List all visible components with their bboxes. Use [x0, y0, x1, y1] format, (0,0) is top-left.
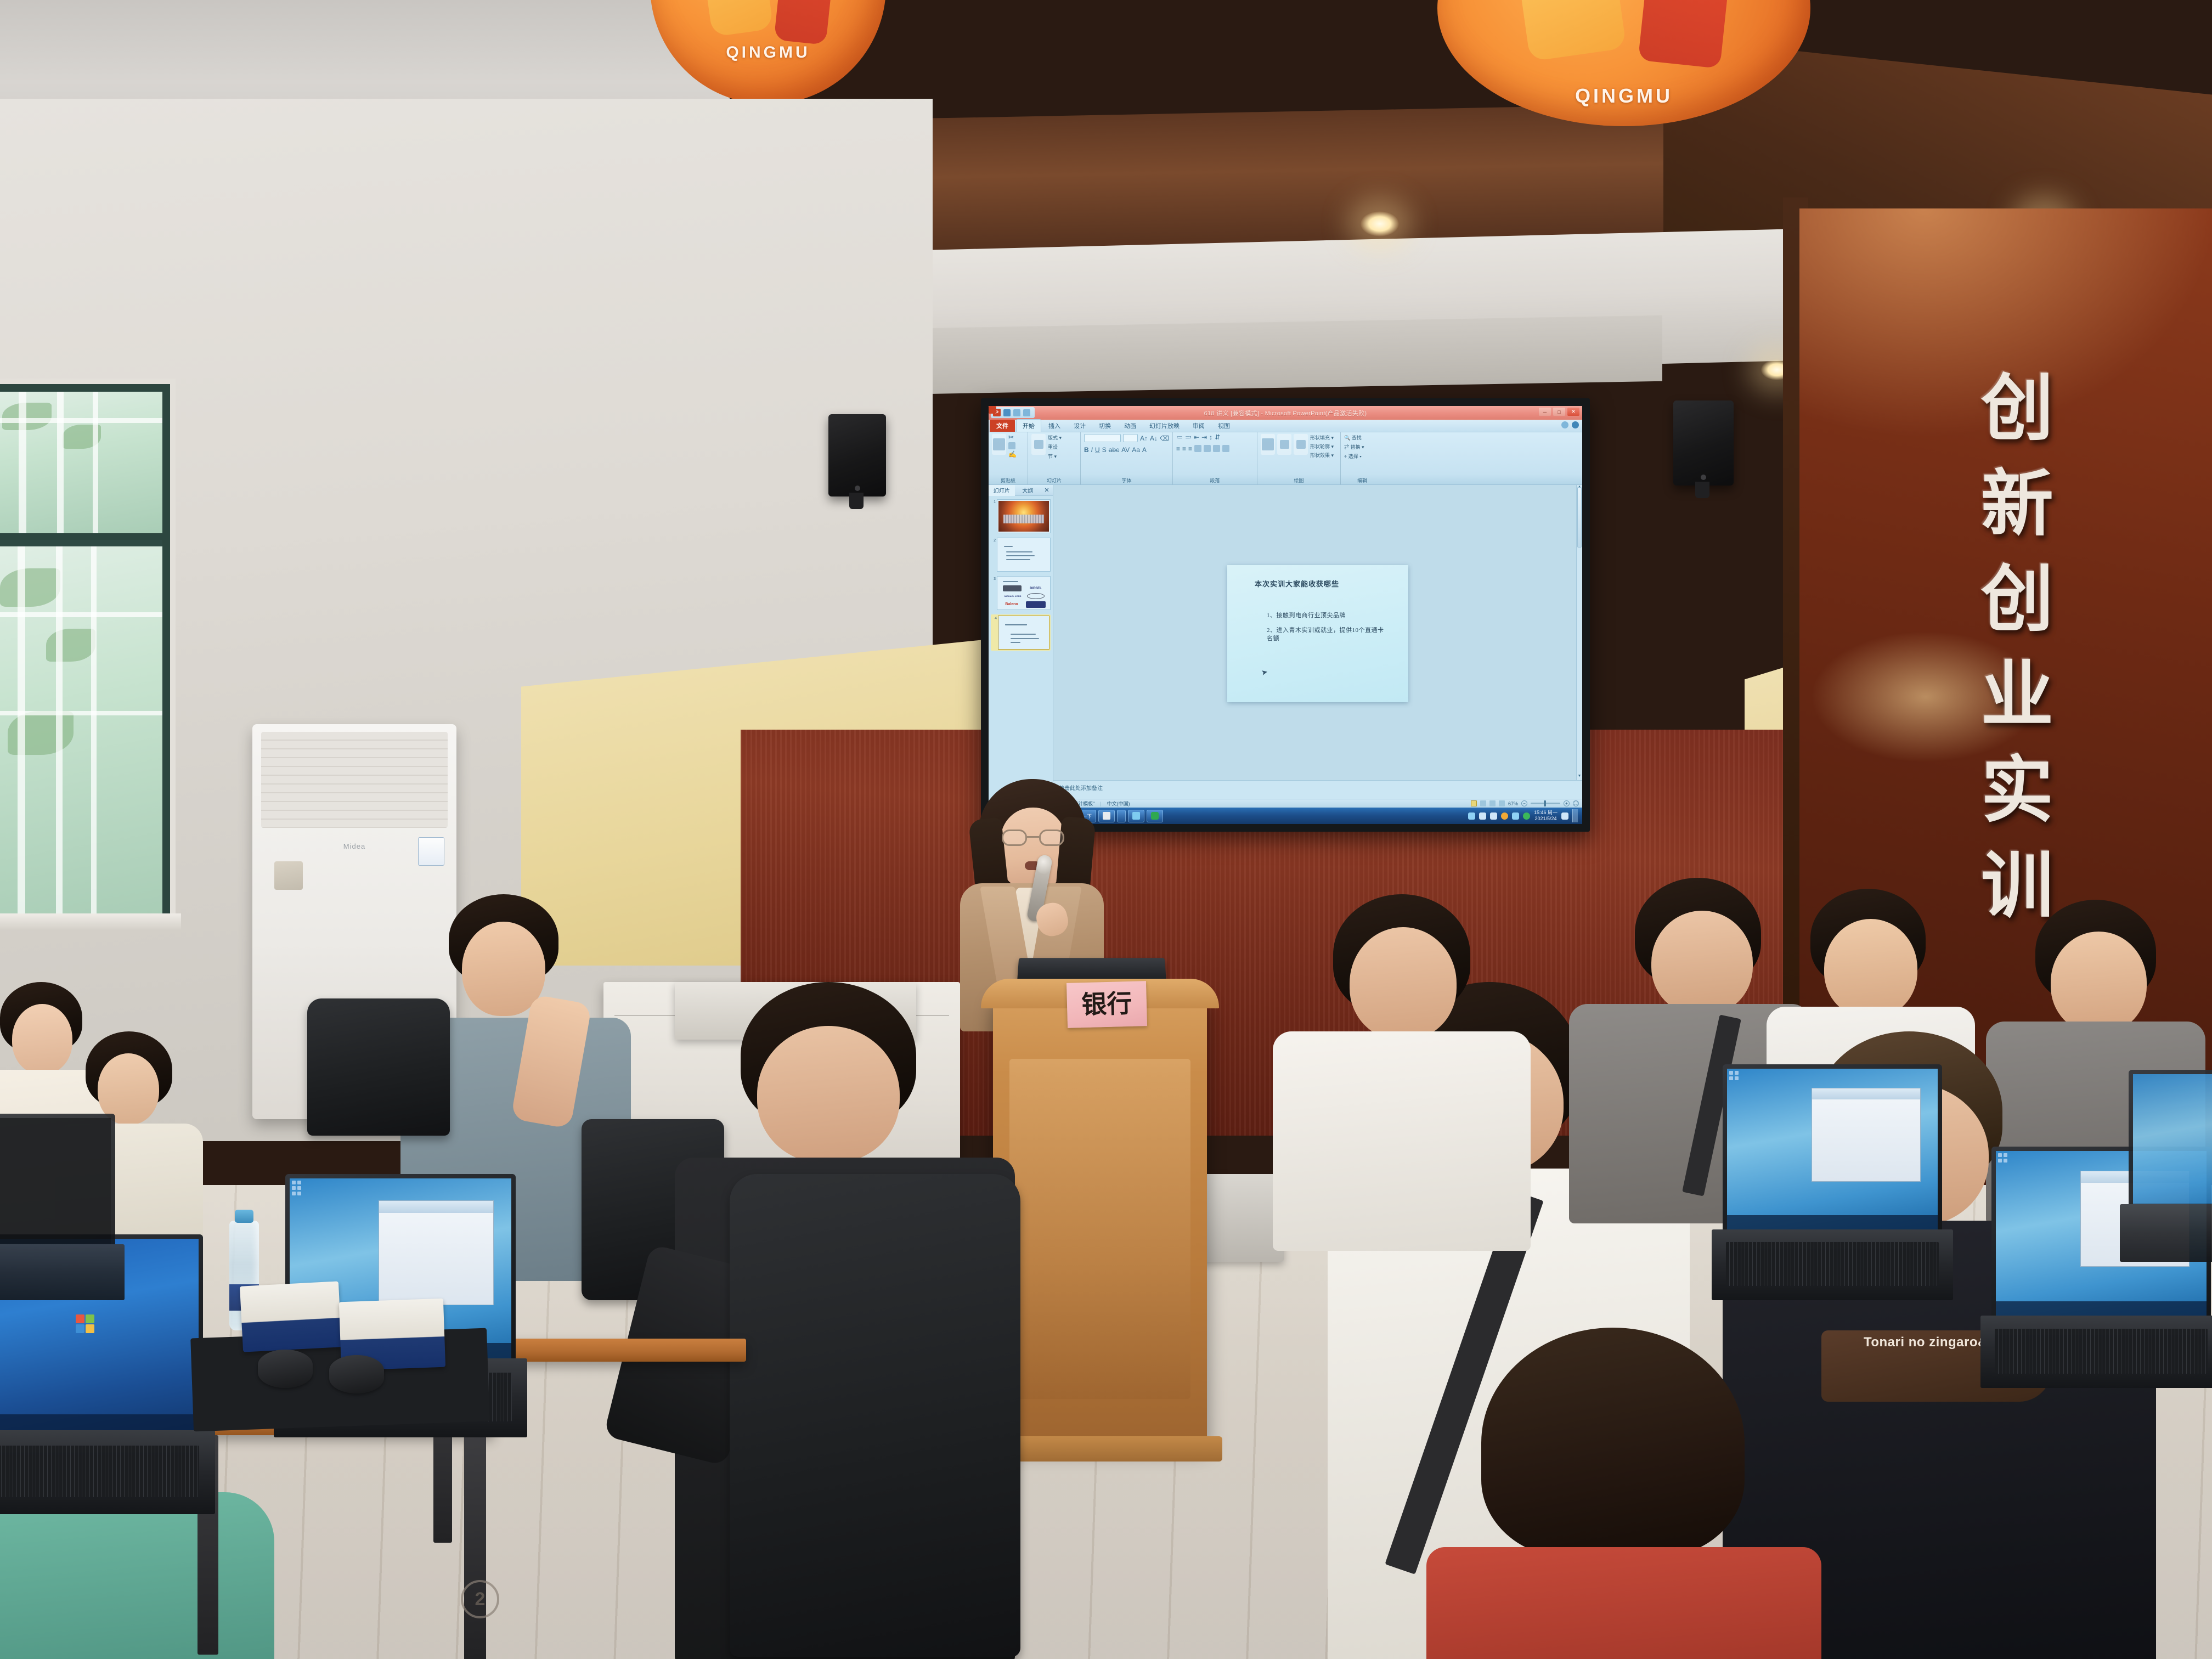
calligraphy-char-4: 业 — [1981, 659, 2053, 732]
ppt-title-bar: P 618 讲义 [兼容模式] - Microsoft PowerPoint(产… — [989, 406, 1582, 420]
student-7 — [1273, 894, 1531, 1245]
text-direction-icon[interactable]: ⇵ — [1215, 434, 1220, 441]
thumbnail-preview[interactable]: DIESEL MICHAEL KORS Baleno — [997, 576, 1051, 610]
slide-title[interactable]: 本次实训大家能收获哪些 — [1255, 578, 1397, 589]
tab-design[interactable]: 设计 — [1068, 420, 1092, 432]
slide-canvas-wrapper: 本次实训大家能收获哪些 1、接触到电商行业顶尖品牌 2、进入青木实训或就业，提供… — [1053, 485, 1582, 780]
replace-button[interactable]: ⇄ 替换 ▾ — [1344, 443, 1364, 450]
taskbar-item-player[interactable] — [1147, 810, 1163, 822]
change-case-icon[interactable]: Aa — [1132, 447, 1140, 453]
podium-sign-text: 银行 — [1081, 991, 1132, 1018]
ribbon[interactable]: ✂ ✍ 剪贴板 版式 ▾ 重设 — [989, 432, 1582, 485]
clock-time: 15:46 周一 — [1534, 810, 1558, 815]
podium-front-panel — [1009, 1059, 1190, 1399]
window-controls[interactable]: ─ □ ✕ — [1539, 408, 1579, 416]
save-icon[interactable] — [1003, 409, 1011, 416]
calligraphy-char-5: 实 — [1981, 755, 2053, 827]
group-label-paragraph: 段落 — [1173, 477, 1257, 484]
volume-icon[interactable] — [1490, 812, 1497, 820]
floor-number-tag: 2 — [461, 1580, 499, 1618]
clock-date: 2021/5/24 — [1534, 816, 1556, 821]
laptop-taskbar — [1727, 1215, 1938, 1229]
pane-close-icon[interactable]: ✕ — [1041, 487, 1053, 494]
slide-editing-area[interactable]: 本次实训大家能收获哪些 1、接触到电商行业顶尖品牌 2、进入青木实训或就业，提供… — [1053, 485, 1582, 799]
thumbnail-number: 3 — [991, 576, 996, 610]
quick-styles-button[interactable] — [1294, 434, 1308, 455]
window — [0, 384, 170, 922]
tab-insert[interactable]: 插入 — [1042, 420, 1066, 432]
laptop-back-left[interactable] — [0, 1114, 115, 1300]
maximize-button[interactable]: □ — [1553, 408, 1565, 416]
podium-sign: 银行 — [1066, 981, 1147, 1028]
ac-control-panel[interactable] — [274, 861, 303, 890]
view-normal-icon[interactable] — [1471, 800, 1477, 806]
shapes-gallery-button[interactable] — [1261, 434, 1275, 455]
slide-bullet-2: 2、进入青木实训或就业，提供10个直通卡名额 — [1267, 627, 1385, 643]
layout-button[interactable]: 版式 ▾ — [1048, 434, 1062, 441]
podium — [993, 993, 1207, 1443]
taskbar-clock[interactable]: 15:46 周一 2021/5/24 — [1534, 810, 1558, 822]
laptop-base — [0, 1244, 125, 1300]
banner-label: QINGMU — [1437, 84, 1810, 108]
thumbnail-number: 4 — [992, 616, 997, 650]
shield-icon[interactable] — [1501, 812, 1508, 820]
ribbon-group-font[interactable]: A↑ A↓ ⌫ B I U S abc AV Aa A — [1081, 432, 1173, 484]
scroll-down-icon[interactable]: ▼ — [1577, 774, 1582, 780]
character-spacing-icon[interactable]: AV — [1121, 447, 1130, 453]
laptop-taskbar — [0, 1414, 199, 1432]
zoom-out-button[interactable]: − — [1521, 800, 1527, 806]
undo-icon[interactable] — [1013, 409, 1020, 416]
taskbar-item-contacts[interactable] — [1128, 810, 1144, 822]
select-button[interactable]: ⌖ 选择 ▾ — [1344, 453, 1362, 460]
justify-icon[interactable] — [1194, 445, 1201, 452]
document-icon[interactable] — [1561, 812, 1568, 820]
bottle-cap — [235, 1210, 253, 1223]
copy-icon[interactable] — [1008, 442, 1015, 449]
section-button[interactable]: 节 ▾ — [1048, 453, 1062, 460]
group-label-font: 字体 — [1081, 477, 1172, 484]
numbering-icon[interactable]: ≕ — [1185, 434, 1192, 441]
view-slideshow-icon[interactable] — [1499, 800, 1505, 806]
slide-vertical-scrollbar[interactable]: ▲ ▼ — [1576, 485, 1582, 780]
speaker-mount-left — [849, 493, 864, 509]
desktop-icons — [292, 1181, 301, 1195]
logo-baleno: Baleno — [1002, 601, 1022, 607]
laptop-lid — [2129, 1070, 2212, 1208]
laptop-keyboard[interactable] — [1995, 1329, 2207, 1374]
ribbon-group-slides[interactable]: 版式 ▾ 重设 节 ▾ 幻灯片 — [1028, 432, 1081, 484]
slide-canvas[interactable]: 本次实训大家能收获哪些 1、接触到电商行业顶尖品牌 2、进入青木实训或就业，提供… — [1227, 565, 1408, 702]
slide-bullet-1: 1、接触到电商行业顶尖品牌 — [1267, 612, 1385, 620]
bullets-icon[interactable]: ≔ — [1176, 434, 1183, 441]
line-spacing-icon[interactable]: ↕ — [1209, 434, 1212, 441]
bold-icon[interactable]: B — [1084, 447, 1089, 453]
strikethrough-icon[interactable]: abc — [1109, 447, 1119, 453]
laptop-right-1[interactable] — [1723, 1064, 1942, 1300]
computer-mouse-1[interactable] — [258, 1350, 313, 1388]
window-sill — [0, 913, 181, 930]
office-chair-left[interactable] — [307, 998, 450, 1136]
group-label-drawing: 绘图 — [1257, 477, 1340, 484]
tab-review[interactable]: 审阅 — [1187, 420, 1211, 432]
slide-thumbnail-pane[interactable]: 幻灯片 大纲 ✕ 1 2 — [989, 485, 1053, 799]
columns-icon[interactable] — [1213, 445, 1220, 452]
projection-screen: P 618 讲义 [兼容模式] - Microsoft PowerPoint(产… — [981, 398, 1590, 832]
ribbon-group-drawing[interactable]: 形状填充 ▾ 形状轮廓 ▾ 形状效果 ▾ 绘图 — [1257, 432, 1341, 484]
pane-tab-outline[interactable]: 大纲 — [1015, 484, 1041, 496]
cut-icon[interactable]: ✂ — [1008, 434, 1017, 441]
sogou-icon[interactable] — [1512, 812, 1519, 820]
open-window[interactable] — [1812, 1088, 1921, 1181]
calligraphy-char-1: 创 — [1981, 373, 2053, 445]
laptop-taskbar — [1996, 1301, 2207, 1316]
laptop-lid — [1723, 1064, 1942, 1234]
font-size-input[interactable] — [1123, 434, 1138, 442]
slide-body[interactable]: 1、接触到电商行业顶尖品牌 2、进入青木实训或就业，提供10个直通卡名额 — [1267, 612, 1397, 643]
tab-home[interactable]: 开始 — [1016, 419, 1041, 432]
laptop-screen[interactable] — [0, 1118, 111, 1244]
tab-view[interactable]: 视图 — [1212, 420, 1236, 432]
shape-fill-button[interactable]: 形状填充 ▾ — [1310, 434, 1334, 441]
powerpoint-window: P 618 讲义 [兼容模式] - Microsoft PowerPoint(产… — [989, 406, 1582, 824]
window-pane-lower — [0, 546, 162, 914]
laptop-screen[interactable] — [2133, 1074, 2212, 1204]
new-slide-button[interactable] — [1031, 434, 1046, 455]
speaker-mount-right — [1695, 482, 1709, 498]
language-indicator[interactable]: 中文(中国) — [1107, 800, 1130, 807]
tab-file[interactable]: 文件 — [990, 420, 1015, 432]
close-button[interactable]: ✕ — [1567, 408, 1579, 416]
align-center-icon[interactable]: ≡ — [1182, 445, 1186, 452]
text-shadow-icon[interactable]: S — [1102, 447, 1107, 453]
align-right-icon[interactable]: ≡ — [1188, 445, 1192, 452]
show-desktop-button[interactable] — [1572, 809, 1578, 822]
laptop-base — [2120, 1204, 2212, 1262]
mouse-cursor-icon: ➤ — [1260, 667, 1268, 678]
thumbnail-preview[interactable] — [998, 616, 1049, 650]
network-icon[interactable] — [1479, 812, 1486, 820]
increase-indent-icon[interactable]: ⇥ — [1201, 434, 1207, 441]
player-icon — [1151, 812, 1159, 820]
italic-icon[interactable]: I — [1091, 447, 1093, 453]
tab-animations[interactable]: 动画 — [1118, 420, 1142, 432]
paste-button[interactable] — [992, 434, 1006, 455]
shape-outline-button[interactable]: 形状轮廓 ▾ — [1310, 443, 1334, 450]
status-right-controls[interactable]: 67% − + ⛶ — [1471, 800, 1579, 806]
computer-mouse-2[interactable] — [329, 1355, 384, 1393]
clear-formatting-icon[interactable]: ⌫ — [1160, 435, 1169, 442]
group-label-clipboard: 剪贴板 — [989, 477, 1028, 484]
classroom-scene: QINGMU QINGMU 创 新 创 业 实 训 — [0, 0, 2212, 1659]
view-reading-icon[interactable] — [1489, 800, 1496, 806]
arrange-button[interactable] — [1277, 434, 1291, 455]
calligraphy-char-2: 新 — [1981, 469, 2053, 541]
wall-speaker-left — [828, 414, 886, 496]
banner-label: QINGMU — [650, 43, 886, 62]
zoom-level: 67% — [1508, 801, 1518, 806]
quick-access-toolbar[interactable]: P — [991, 407, 1035, 418]
calligraphy-char-3: 创 — [1981, 564, 2053, 636]
fit-to-window-button[interactable]: ⛶ — [1573, 800, 1579, 806]
wall-speaker-right — [1673, 400, 1734, 486]
ac-vent — [261, 732, 448, 828]
projected-display: P 618 讲义 [兼容模式] - Microsoft PowerPoint(产… — [989, 406, 1582, 824]
scrollbar-thumb[interactable] — [1577, 487, 1582, 548]
tab-slideshow[interactable]: 幻灯片放映 — [1143, 420, 1186, 432]
minimize-button[interactable]: ─ — [1539, 408, 1551, 416]
hanging-banner-right: QINGMU — [1437, 0, 1810, 126]
laptop-keyboard[interactable] — [1726, 1242, 1938, 1286]
ribbon-help-controls[interactable] — [1561, 421, 1579, 428]
contacts-icon — [1132, 812, 1140, 820]
input-method-icon[interactable] — [1468, 812, 1475, 820]
thumbnail-preview[interactable] — [997, 538, 1051, 572]
office-chair-center[interactable] — [730, 1174, 1020, 1657]
tab-transitions[interactable]: 切换 — [1093, 420, 1117, 432]
view-slide-sorter-icon[interactable] — [1480, 800, 1486, 806]
font-name-input[interactable] — [1084, 434, 1121, 442]
wechat-icon[interactable] — [1523, 812, 1530, 820]
notes-pane[interactable]: 单击此处添加备注 — [1053, 780, 1582, 799]
zoom-in-button[interactable]: + — [1564, 800, 1570, 806]
taskbar-item-powerpoint[interactable] — [1117, 810, 1126, 822]
open-window[interactable] — [379, 1200, 494, 1305]
thumbnail-slide-2[interactable]: 2 — [991, 538, 1051, 572]
system-tray[interactable]: 15:46 周一 2021/5/24 — [1468, 809, 1580, 822]
font-color-icon[interactable]: A — [1142, 447, 1147, 453]
laptop-base — [1712, 1229, 1953, 1300]
minimize-ribbon-icon[interactable] — [1561, 421, 1568, 428]
shrink-font-icon[interactable]: A↓ — [1150, 435, 1158, 442]
ppt-workspace: 幻灯片 大纲 ✕ 1 2 — [989, 485, 1582, 799]
student-bottom — [1404, 1328, 1843, 1659]
logo-michael-kors: MICHAEL KORS — [1003, 594, 1023, 599]
shape-effects-button[interactable]: 形状效果 ▾ — [1310, 452, 1334, 459]
thumbnail-number: 2 — [991, 538, 996, 572]
thumbnail-slide-4[interactable]: 4 — [991, 614, 1051, 651]
thumbnail-number: 1 — [991, 499, 996, 533]
windows-logo-icon — [76, 1314, 94, 1333]
find-button[interactable]: 🔍 查找 — [1344, 434, 1362, 441]
laptop-screen[interactable] — [1727, 1069, 1938, 1230]
laptop-keyboard[interactable] — [0, 1446, 199, 1498]
desktop-icons — [1729, 1071, 1739, 1080]
zoom-slider[interactable] — [1531, 803, 1560, 804]
pane-tab-slides[interactable]: 幻灯片 — [989, 484, 1015, 496]
thumbnail-list[interactable]: 1 2 — [989, 496, 1053, 799]
laptop-far-right[interactable] — [2129, 1070, 2212, 1262]
logo-diesel: DIESEL — [1026, 585, 1046, 591]
mouse-box-1[interactable] — [240, 1281, 342, 1352]
group-label-editing: 编辑 — [1341, 477, 1384, 484]
thumbnail-preview[interactable] — [997, 499, 1051, 533]
presenter-glasses — [1002, 830, 1064, 846]
grow-font-icon[interactable]: A↑ — [1140, 435, 1148, 442]
laptop-lid — [0, 1114, 115, 1248]
window-title: 618 讲义 [兼容模式] - Microsoft PowerPoint(产品激… — [989, 409, 1582, 417]
smartart-icon[interactable] — [1222, 445, 1229, 452]
window-pane-upper — [0, 392, 162, 540]
wall-calligraphy: 创 新 创 业 实 训 — [1965, 373, 2069, 923]
presenter-face — [1001, 808, 1065, 890]
ribbon-group-editing[interactable]: 🔍 查找 ⇄ 替换 ▾ ⌖ 选择 ▾ 编辑 — [1341, 432, 1384, 484]
reset-button[interactable]: 重设 — [1048, 443, 1062, 450]
decrease-indent-icon[interactable]: ⇤ — [1194, 434, 1199, 441]
ceiling-downlight — [1361, 211, 1399, 236]
thumbnail-slide-1[interactable]: 1 — [991, 499, 1051, 533]
powerpoint-icon — [989, 406, 996, 414]
group-label-slides: 幻灯片 — [1028, 477, 1080, 484]
laptop-base — [0, 1430, 215, 1514]
ribbon-group-paragraph[interactable]: ≔ ≕ ⇤ ⇥ ↕ ⇵ ≡ ≡ ≡ — [1173, 432, 1257, 484]
energy-label — [418, 837, 444, 866]
redo-icon[interactable] — [1023, 409, 1030, 416]
align-left-icon[interactable]: ≡ — [1176, 445, 1180, 452]
desktop-icons — [1998, 1153, 2007, 1163]
ribbon-group-clipboard[interactable]: ✂ ✍ 剪贴板 — [989, 432, 1028, 484]
distribute-icon[interactable] — [1204, 445, 1211, 452]
laptop-base — [1980, 1316, 2212, 1388]
pane-tab-strip[interactable]: 幻灯片 大纲 ✕ — [989, 485, 1053, 496]
desk-leg — [464, 1435, 486, 1659]
help-icon[interactable] — [1572, 421, 1579, 428]
ribbon-tab-strip[interactable]: 文件 开始 插入 设计 切换 动画 幻灯片放映 审阅 视图 — [989, 420, 1582, 432]
format-painter-icon[interactable]: ✍ — [1008, 451, 1017, 458]
underline-icon[interactable]: U — [1095, 447, 1100, 453]
thumbnail-slide-3[interactable]: 3 DIESEL MICHAEL KORS Baleno — [991, 576, 1051, 610]
